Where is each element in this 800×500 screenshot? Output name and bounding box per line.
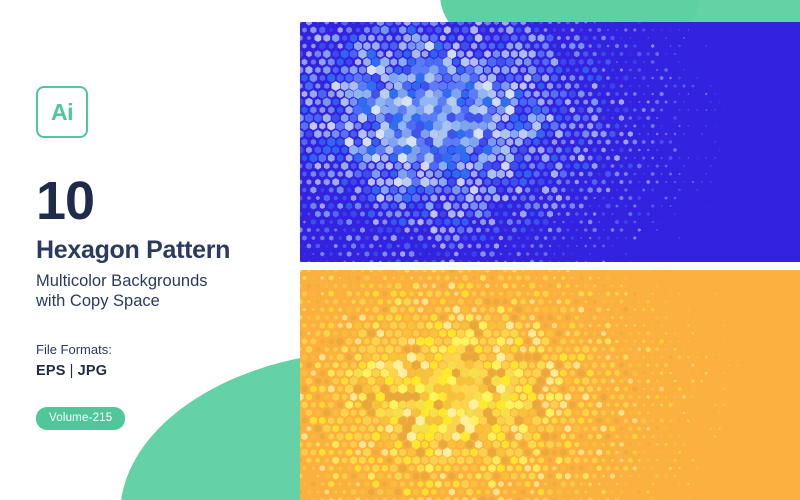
subtitle-line-2: with Copy Space [36, 291, 286, 311]
poster-canvas: Ai 10 Hexagon Pattern Multicolor Backgro… [0, 0, 800, 500]
adobe-illustrator-icon: Ai [36, 86, 88, 138]
page-title: Hexagon Pattern [36, 237, 286, 265]
amber-hexagon-preview [300, 270, 800, 500]
subtitle-line-1: Multicolor Backgrounds [36, 271, 286, 291]
amber-hexagon-pattern [300, 270, 800, 500]
blue-hexagon-preview [300, 22, 800, 262]
item-count: 10 [36, 176, 286, 227]
format-jpg: JPG [78, 363, 108, 379]
file-formats-label: File Formats: [36, 342, 286, 357]
format-separator: | [66, 363, 78, 379]
volume-badge: Volume-215 [36, 407, 125, 430]
format-eps: EPS [36, 363, 66, 379]
blue-hexagon-pattern [300, 22, 800, 262]
info-panel: Ai 10 Hexagon Pattern Multicolor Backgro… [36, 86, 286, 430]
file-formats-value: EPS|JPG [36, 363, 286, 379]
